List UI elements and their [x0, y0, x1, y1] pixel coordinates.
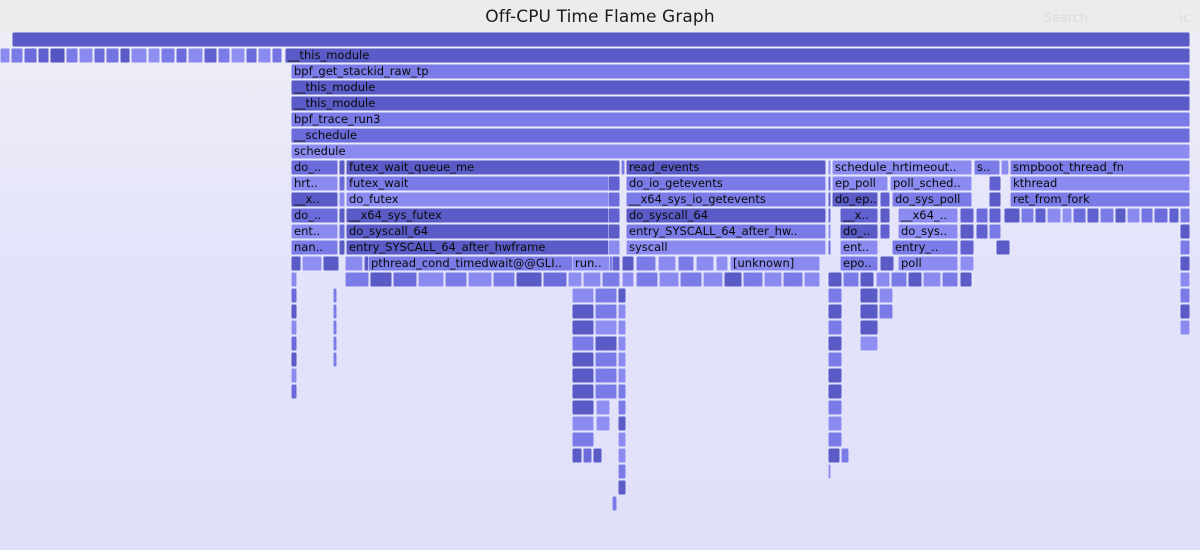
flame-frame-unlabeled[interactable] — [841, 448, 849, 463]
flame-frame-unlabeled[interactable] — [468, 272, 492, 287]
flame-frame-unlabeled[interactable] — [291, 288, 297, 303]
flame-frame-unlabeled[interactable] — [272, 48, 282, 63]
flame-frame-unlabeled[interactable] — [879, 304, 893, 319]
flame-frame-unlabeled[interactable] — [860, 272, 874, 287]
flame-frame-unlabeled[interactable] — [804, 272, 820, 287]
flame-frame-unlabeled[interactable] — [345, 272, 369, 287]
flame-frame-unlabeled[interactable] — [828, 352, 842, 367]
flame-frame-unlabeled[interactable] — [618, 480, 626, 495]
flame-frame-unlabeled[interactable] — [12, 32, 1190, 47]
flame-frame-unlabeled[interactable] — [976, 208, 988, 223]
flame-frame-unlabeled[interactable] — [828, 176, 831, 191]
flame-frame[interactable]: ent.. — [840, 240, 878, 255]
flame-frame-unlabeled[interactable] — [1180, 304, 1190, 319]
flame-frame-unlabeled[interactable] — [1021, 208, 1034, 223]
flame-frame-unlabeled[interactable] — [612, 496, 617, 511]
flame-frame-unlabeled[interactable] — [120, 48, 130, 63]
flame-frame-unlabeled[interactable] — [618, 336, 626, 351]
flame-frame[interactable]: do_.. — [291, 160, 338, 175]
flame-frame-unlabeled[interactable] — [246, 48, 257, 63]
flame-frame-unlabeled[interactable] — [618, 464, 626, 479]
flame-frame-unlabeled[interactable] — [608, 176, 620, 191]
flame-frame-unlabeled[interactable] — [11, 48, 23, 63]
flame-frame[interactable]: do_ep.. — [832, 192, 878, 207]
flame-frame-unlabeled[interactable] — [658, 256, 676, 271]
flame-frame-unlabeled[interactable] — [996, 240, 1010, 255]
flame-frame[interactable]: __x.. — [840, 208, 878, 223]
flame-frame[interactable]: poll_sched.. — [890, 176, 972, 191]
flame-frame-unlabeled[interactable] — [1180, 288, 1190, 303]
flame-frame-unlabeled[interactable] — [618, 304, 626, 319]
flame-frame[interactable]: __this_module — [291, 80, 1190, 95]
flame-frame-unlabeled[interactable] — [1169, 208, 1179, 223]
flame-frame[interactable]: schedule — [291, 144, 1190, 159]
flamegraph-app: Off-CPU Time Flame Graph Search ic __thi… — [0, 0, 1200, 550]
flame-frame-unlabeled[interactable] — [572, 384, 594, 399]
flame-frame[interactable]: do_.. — [840, 224, 878, 239]
flame-frame-unlabeled[interactable] — [703, 272, 723, 287]
flame-frame-unlabeled[interactable] — [393, 272, 417, 287]
flame-frame-unlabeled[interactable] — [828, 336, 842, 351]
flame-frame-unlabeled[interactable] — [1035, 208, 1046, 223]
flame-frame-unlabeled[interactable] — [572, 288, 594, 303]
flame-frame-unlabeled[interactable] — [960, 240, 974, 255]
flame-frame-unlabeled[interactable] — [942, 272, 958, 287]
flame-frame-unlabeled[interactable] — [622, 256, 634, 271]
flame-frame-unlabeled[interactable] — [0, 48, 10, 63]
flame-frame-unlabeled[interactable] — [828, 192, 831, 207]
flame-frame-unlabeled[interactable] — [572, 400, 594, 415]
flame-frame-unlabeled[interactable] — [828, 384, 842, 399]
flame-frame-unlabeled[interactable] — [1127, 208, 1140, 223]
flame-frame-unlabeled[interactable] — [339, 224, 345, 239]
flame-frame-unlabeled[interactable] — [1004, 208, 1020, 223]
flame-frame-unlabeled[interactable] — [568, 272, 582, 287]
flame-frame[interactable]: syscall — [626, 240, 826, 255]
flame-frame-unlabeled[interactable] — [572, 336, 594, 351]
flame-frame-unlabeled[interactable] — [716, 256, 728, 271]
flame-frame-unlabeled[interactable] — [24, 48, 37, 63]
flame-frame-unlabeled[interactable] — [543, 272, 567, 287]
flame-frame-unlabeled[interactable] — [370, 272, 392, 287]
flame-frame-unlabeled[interactable] — [618, 432, 626, 447]
flame-frame-unlabeled[interactable] — [989, 176, 1001, 191]
flame-frame[interactable]: kthread — [1010, 176, 1190, 191]
flame-frame-unlabeled[interactable] — [612, 256, 620, 271]
flame-frame[interactable]: do_sys_poll — [892, 192, 972, 207]
flame-frame-unlabeled[interactable] — [572, 352, 594, 367]
flame-frame-unlabeled[interactable] — [618, 416, 626, 431]
flame-frame-unlabeled[interactable] — [333, 320, 337, 335]
flame-frame-unlabeled[interactable] — [618, 384, 626, 399]
flame-frame-unlabeled[interactable] — [828, 288, 842, 303]
flame-frame-unlabeled[interactable] — [602, 272, 620, 287]
flame-frame-unlabeled[interactable] — [860, 288, 878, 303]
flame-frame-unlabeled[interactable] — [345, 256, 363, 271]
flame-frame[interactable]: smpboot_thread_fn — [1010, 160, 1190, 175]
flame-frame-unlabeled[interactable] — [828, 320, 842, 335]
flame-frame-unlabeled[interactable] — [880, 256, 894, 271]
flame-frame-unlabeled[interactable] — [828, 304, 842, 319]
flame-frame-unlabeled[interactable] — [188, 48, 203, 63]
flame-frame[interactable]: do_sys.. — [898, 224, 958, 239]
flame-frame-unlabeled[interactable] — [1073, 208, 1086, 223]
flame-frame-unlabeled[interactable] — [333, 336, 337, 351]
flame-frame[interactable]: __x64_sys_futex — [346, 208, 620, 223]
flame-frame-unlabeled[interactable] — [908, 272, 922, 287]
flame-frame[interactable]: ret_from_fork — [1010, 192, 1190, 207]
flame-frame-unlabeled[interactable] — [595, 336, 617, 351]
flame-frame-unlabeled[interactable] — [621, 160, 625, 175]
flame-frame[interactable]: bpf_trace_run3 — [291, 112, 1190, 127]
flame-frame-unlabeled[interactable] — [828, 400, 842, 415]
header-bar: Off-CPU Time Flame Graph Search ic — [0, 0, 1200, 32]
flame-frame[interactable]: __schedule — [291, 128, 1190, 143]
flame-frame-unlabeled[interactable] — [960, 224, 974, 239]
flame-frame-unlabeled[interactable] — [1001, 160, 1009, 175]
flame-frame-unlabeled[interactable] — [618, 320, 626, 335]
flame-frame-unlabeled[interactable] — [339, 160, 345, 175]
flame-frame-unlabeled[interactable] — [176, 48, 187, 63]
flame-frame-unlabeled[interactable] — [595, 384, 617, 399]
flame-frame-unlabeled[interactable] — [860, 320, 878, 335]
flame-frame-unlabeled[interactable] — [291, 272, 297, 287]
flame-frame-unlabeled[interactable] — [880, 192, 890, 207]
flame-frame-unlabeled[interactable] — [218, 48, 230, 63]
flame-frame-unlabeled[interactable] — [339, 192, 345, 207]
flame-frame[interactable]: futex_wait — [346, 176, 620, 191]
flame-frame-unlabeled[interactable] — [1062, 208, 1072, 223]
flame-frame-unlabeled[interactable] — [572, 304, 594, 319]
flame-frame-unlabeled[interactable] — [333, 304, 337, 319]
flame-frame-unlabeled[interactable] — [79, 48, 93, 63]
flame-frame[interactable]: read_events — [626, 160, 826, 175]
flame-frame-unlabeled[interactable] — [333, 352, 337, 367]
flame-frame-unlabeled[interactable] — [302, 256, 322, 271]
flame-frame-unlabeled[interactable] — [828, 416, 842, 431]
flame-frame[interactable]: do_.. — [291, 208, 338, 223]
flame-frame[interactable]: __this_module — [285, 48, 1190, 63]
flame-frame[interactable]: entry_SYSCALL_64_after_hwframe — [346, 240, 620, 255]
flame-frame-unlabeled[interactable] — [50, 48, 65, 63]
flame-frame-unlabeled[interactable] — [828, 224, 831, 239]
flame-frame-unlabeled[interactable] — [880, 208, 890, 223]
ic-label[interactable]: ic — [1179, 11, 1190, 26]
flame-frame-unlabeled[interactable] — [923, 272, 941, 287]
flame-frame[interactable]: __this_module — [291, 96, 1190, 111]
flame-frame-unlabeled[interactable] — [636, 256, 656, 271]
flame-frame-unlabeled[interactable] — [572, 448, 582, 463]
flame-frame-unlabeled[interactable] — [161, 48, 175, 63]
flame-frame-unlabeled[interactable] — [659, 272, 679, 287]
flame-frame-unlabeled[interactable] — [106, 48, 119, 63]
flame-frame-unlabeled[interactable] — [622, 272, 634, 287]
flame-frame-unlabeled[interactable] — [891, 272, 907, 287]
flame-frame-unlabeled[interactable] — [1180, 208, 1190, 223]
flame-frame-unlabeled[interactable] — [989, 208, 1001, 223]
flame-frame[interactable]: epo.. — [840, 256, 878, 271]
flame-frame-unlabeled[interactable] — [583, 272, 601, 287]
flame-frame-unlabeled[interactable] — [724, 272, 742, 287]
flame-frame-unlabeled[interactable] — [516, 272, 542, 287]
flame-frame-unlabeled[interactable] — [828, 368, 842, 383]
flame-frame[interactable]: ep_poll — [832, 176, 888, 191]
flame-frame-unlabeled[interactable] — [291, 320, 297, 335]
flame-frame-unlabeled[interactable] — [339, 176, 345, 191]
flame-frame[interactable]: do_syscall_64 — [346, 224, 620, 239]
flame-frame[interactable]: do_syscall_64 — [626, 208, 826, 223]
flame-frame[interactable]: entry_SYSCALL_64_after_hw.. — [626, 224, 826, 239]
flame-frame-unlabeled[interactable] — [1180, 320, 1190, 335]
flame-frame-unlabeled[interactable] — [1047, 208, 1061, 223]
flame-frame-unlabeled[interactable] — [1087, 208, 1099, 223]
flame-frame-unlabeled[interactable] — [989, 224, 1001, 239]
flame-frame-unlabeled[interactable] — [879, 288, 893, 303]
flame-frame-unlabeled[interactable] — [989, 192, 1001, 207]
flame-frame-unlabeled[interactable] — [572, 320, 594, 335]
flame-frame-unlabeled[interactable] — [618, 400, 626, 415]
flame-frame[interactable]: run.. — [572, 256, 610, 271]
flame-frame-unlabeled[interactable] — [608, 240, 620, 255]
flame-frame-unlabeled[interactable] — [596, 416, 610, 431]
flamegraph-canvas[interactable]: __this_modulebpf_get_stackid_raw_tp__thi… — [0, 32, 1200, 550]
flame-frame-unlabeled[interactable] — [636, 272, 658, 287]
flame-frame-unlabeled[interactable] — [1115, 208, 1126, 223]
flame-frame-unlabeled[interactable] — [743, 272, 763, 287]
flame-frame-unlabeled[interactable] — [38, 48, 49, 63]
flame-frame-unlabeled[interactable] — [828, 448, 840, 463]
flame-frame-unlabeled[interactable] — [960, 272, 972, 287]
flame-frame-unlabeled[interactable] — [1100, 208, 1114, 223]
flame-frame-unlabeled[interactable] — [1141, 208, 1153, 223]
flame-frame-unlabeled[interactable] — [843, 272, 859, 287]
flame-frame-unlabeled[interactable] — [595, 352, 617, 367]
flame-frame-unlabeled[interactable] — [258, 48, 271, 63]
flame-frame-unlabeled[interactable] — [618, 352, 626, 367]
flame-frame-unlabeled[interactable] — [323, 256, 339, 271]
flame-frame-unlabeled[interactable] — [783, 272, 803, 287]
flame-frame-unlabeled[interactable] — [572, 368, 594, 383]
flame-frame-unlabeled[interactable] — [976, 224, 988, 239]
flame-frame[interactable]: do_io_getevents — [626, 176, 826, 191]
flame-frame-unlabeled[interactable] — [339, 240, 345, 255]
flame-frame-unlabeled[interactable] — [94, 48, 105, 63]
flame-frame-unlabeled[interactable] — [291, 336, 297, 351]
flame-frame-unlabeled[interactable] — [828, 464, 831, 479]
flame-frame-unlabeled[interactable] — [618, 448, 626, 463]
flame-frame-unlabeled[interactable] — [1180, 240, 1190, 255]
flame-frame-unlabeled[interactable] — [1180, 272, 1190, 287]
flame-frame[interactable]: __x64_.. — [898, 208, 958, 223]
flame-frame-unlabeled[interactable] — [131, 48, 147, 63]
flame-frame-unlabeled[interactable] — [445, 272, 467, 287]
flame-frame-unlabeled[interactable] — [339, 208, 345, 223]
flame-frame-unlabeled[interactable] — [618, 288, 626, 303]
flame-frame[interactable]: s.. — [974, 160, 1000, 175]
flame-frame-unlabeled[interactable] — [595, 320, 617, 335]
flame-frame-unlabeled[interactable] — [608, 192, 620, 207]
flame-frame-unlabeled[interactable] — [876, 272, 890, 287]
flame-frame-unlabeled[interactable] — [608, 224, 620, 239]
flame-frame-unlabeled[interactable] — [860, 304, 878, 319]
search-input[interactable]: Search — [1043, 11, 1088, 26]
flame-frame-unlabeled[interactable] — [231, 48, 245, 63]
flame-frame-unlabeled[interactable] — [66, 48, 78, 63]
flame-frame-unlabeled[interactable] — [596, 400, 610, 415]
flame-frame-unlabeled[interactable] — [828, 208, 831, 223]
flame-frame-unlabeled[interactable] — [828, 240, 831, 255]
flame-frame[interactable]: bpf_get_stackid_raw_tp — [291, 64, 1190, 79]
page-title: Off-CPU Time Flame Graph — [0, 7, 1200, 27]
flame-frame-unlabeled[interactable] — [418, 272, 444, 287]
flame-frame-unlabeled[interactable] — [291, 304, 297, 319]
flame-frame-unlabeled[interactable] — [595, 288, 617, 303]
flame-frame-unlabeled[interactable] — [333, 288, 337, 303]
flame-frame-unlabeled[interactable] — [291, 352, 297, 367]
flame-frame-unlabeled[interactable] — [572, 416, 594, 431]
flame-frame-unlabeled[interactable] — [860, 336, 878, 351]
flame-frame[interactable]: futex_wait_queue_me — [346, 160, 620, 175]
flame-frame-unlabeled[interactable] — [960, 208, 974, 223]
flame-frame-unlabeled[interactable] — [572, 432, 594, 447]
flame-frame-unlabeled[interactable] — [1180, 256, 1190, 271]
flame-frame-unlabeled[interactable] — [291, 256, 301, 271]
flame-frame-unlabeled[interactable] — [291, 368, 297, 383]
flame-frame-unlabeled[interactable] — [618, 368, 626, 383]
flame-frame-unlabeled[interactable] — [1154, 208, 1168, 223]
flame-frame-unlabeled[interactable] — [595, 368, 617, 383]
flame-frame-unlabeled[interactable] — [595, 304, 617, 319]
flame-frame[interactable]: __x64_sys_io_getevents — [626, 192, 826, 207]
flame-frame[interactable]: [unknown] — [730, 256, 820, 271]
flame-frame[interactable]: ent.. — [291, 224, 338, 239]
flame-frame-unlabeled[interactable] — [583, 448, 592, 463]
flame-frame-unlabeled[interactable] — [593, 448, 602, 463]
flame-frame[interactable]: schedule_hrtimeout.. — [832, 160, 972, 175]
flame-frame-unlabeled[interactable] — [960, 256, 974, 271]
flame-frame[interactable]: hrt.. — [291, 176, 338, 191]
flame-frame[interactable]: poll — [898, 256, 958, 271]
flame-frame-unlabeled[interactable] — [828, 272, 842, 287]
flame-frame[interactable]: __x.. — [291, 192, 338, 207]
flame-frame-unlabeled[interactable] — [1180, 224, 1190, 239]
flame-frame-unlabeled[interactable] — [828, 160, 831, 175]
flame-frame[interactable]: entry_.. — [892, 240, 958, 255]
flame-frame-unlabeled[interactable] — [696, 256, 714, 271]
flame-frame-unlabeled[interactable] — [880, 224, 890, 239]
flame-frame-unlabeled[interactable] — [493, 272, 515, 287]
flame-frame-unlabeled[interactable] — [828, 432, 842, 447]
flame-frame-unlabeled[interactable] — [204, 48, 217, 63]
flame-frame-unlabeled[interactable] — [678, 256, 694, 271]
flame-frame-unlabeled[interactable] — [148, 48, 160, 63]
flame-frame[interactable]: do_futex — [346, 192, 620, 207]
flame-frame-unlabeled[interactable] — [608, 208, 620, 223]
flame-frame-unlabeled[interactable] — [764, 272, 782, 287]
flame-frame-unlabeled[interactable] — [680, 272, 702, 287]
flame-frame[interactable]: nan.. — [291, 240, 338, 255]
flame-frame-unlabeled[interactable] — [291, 384, 297, 399]
